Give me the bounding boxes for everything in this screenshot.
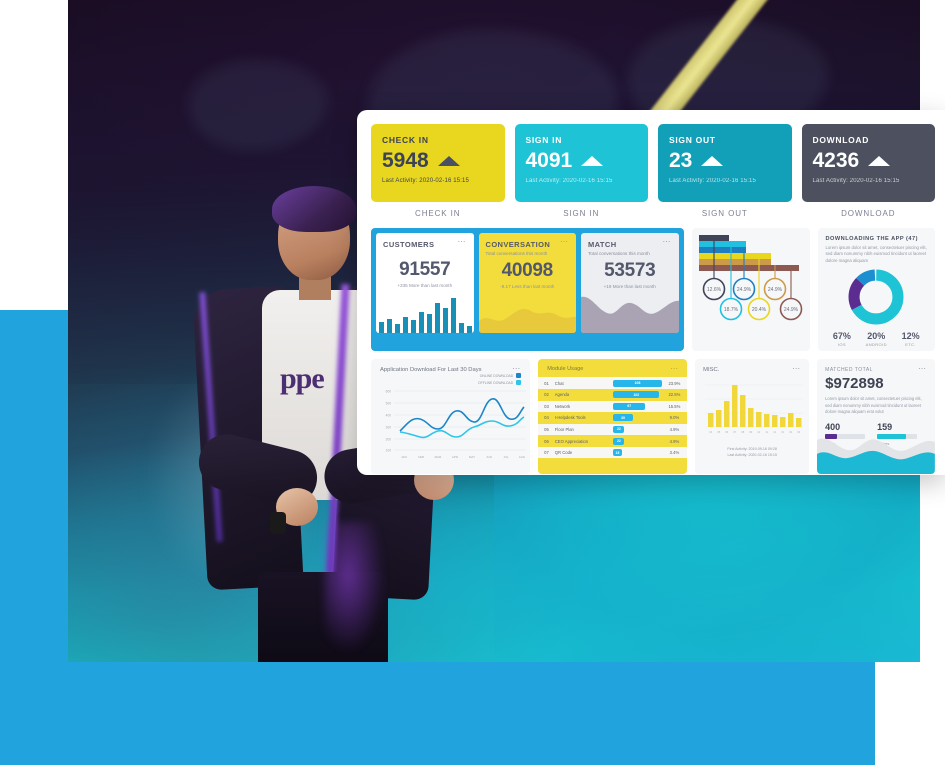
misc-card[interactable]: MISC. ⋯ 04 05 0 bbox=[695, 359, 809, 474]
speaker-shirt-logo: ppe bbox=[280, 362, 358, 396]
funnel-pct-4: 24.9% bbox=[767, 287, 782, 293]
more-options-icon[interactable]: ⋯ bbox=[792, 367, 801, 372]
chart-title: Application Download For Last 30 Days bbox=[380, 367, 482, 373]
row-name: QR Code bbox=[555, 447, 614, 459]
row-bar-cell: 39 bbox=[613, 412, 661, 424]
more-options-icon[interactable]: ⋯ bbox=[670, 367, 687, 372]
module-usage-card[interactable]: Module Usage ⋯ 01 Chat 108 23.9% 02 Agen… bbox=[538, 359, 687, 474]
kpi-value: 4091 bbox=[526, 150, 573, 171]
kpi-caption-sign-out: SIGN OUT bbox=[658, 209, 792, 218]
row-name: Network bbox=[555, 401, 614, 413]
table-row[interactable]: 04 I-Helpdesk Tools 39 9.0% bbox=[538, 412, 687, 424]
kpi-card-check-in[interactable]: CHECK IN 5948 Last Activity: 2020-02-16 … bbox=[371, 124, 505, 202]
y-tick: 200 bbox=[386, 438, 392, 442]
row-id: 06 bbox=[538, 435, 555, 447]
match-area-sparkline bbox=[581, 287, 679, 333]
table-row[interactable]: 06 CEO Appreciation 22 4.9% bbox=[538, 435, 687, 447]
matched-total-card[interactable]: MATCHED TOTAL ⋯ $972898 Lorem ipsum dolo… bbox=[817, 359, 935, 474]
mini-card-value: 53573 bbox=[588, 260, 672, 282]
x-tick: JUN bbox=[486, 455, 492, 459]
x-tick: 03 bbox=[797, 430, 800, 434]
legend-swatch-icon bbox=[516, 373, 521, 378]
triangle-up-icon bbox=[438, 156, 460, 166]
x-tick: JAN bbox=[401, 455, 407, 459]
x-tick: AUG bbox=[519, 455, 526, 459]
funnel-pct-1: 18.7% bbox=[723, 307, 738, 313]
donut-wrap bbox=[826, 268, 927, 326]
kpi-value-row: 5948 bbox=[382, 150, 494, 171]
row-id: 04 bbox=[538, 412, 555, 424]
row-id: 03 bbox=[538, 401, 555, 413]
x-tick: 07 bbox=[733, 430, 736, 434]
module-usage-header: Module Usage ⋯ bbox=[538, 359, 687, 377]
downloading-app-card[interactable]: DOWNLOADING THE APP (47) Lorem ipsum dol… bbox=[818, 228, 935, 351]
kpi-value-row: 4236 bbox=[813, 150, 925, 171]
more-options-icon[interactable]: ⋯ bbox=[560, 240, 569, 245]
matched-total-area-chart bbox=[817, 428, 935, 474]
donut-legend-pct: 67% bbox=[833, 331, 851, 341]
mini-card-delta: -8.17 Less than last month bbox=[486, 284, 570, 289]
mini-card-subtitle: Total conversations this month bbox=[486, 251, 570, 256]
funnel-pct-0: 12.6% bbox=[706, 287, 721, 293]
mini-card-group: CUSTOMERS ⋯ 91557 +335 More than last mo… bbox=[371, 228, 684, 351]
row-name: CEO Appreciation bbox=[555, 435, 614, 447]
row-name: Chat bbox=[555, 377, 614, 389]
mini-card-header: CUSTOMERS ⋯ bbox=[383, 240, 467, 249]
row-name: Floor Plan bbox=[555, 424, 614, 436]
module-usage-table: 01 Chat 108 23.9% 02 Agenda 102 22.5% 03… bbox=[538, 377, 687, 458]
row-bar: 102 bbox=[613, 391, 659, 398]
donut-legend-pct: 20% bbox=[866, 331, 887, 341]
conversation-area-sparkline bbox=[479, 295, 577, 333]
y-tick: 400 bbox=[386, 414, 392, 418]
donut-legend-pct: 12% bbox=[902, 331, 920, 341]
downloading-app-body: Lorem ipsum dolor sit amet, consectetuer… bbox=[826, 245, 927, 264]
kpi-title: SIGN IN bbox=[526, 135, 638, 145]
row-id: 05 bbox=[538, 424, 555, 436]
table-row[interactable]: 01 Chat 108 23.9% bbox=[538, 377, 687, 389]
mini-card-subtitle: Total conversations this month bbox=[588, 251, 672, 256]
row-bar: 39 bbox=[613, 414, 632, 421]
chart-legend-item: ONLINE DOWNLOAD bbox=[380, 373, 521, 378]
row-name: Agenda bbox=[555, 389, 614, 401]
matched-total-body: Lorem ipsum dolor sit amet, consectetuer… bbox=[825, 396, 927, 415]
kpi-card-sign-in[interactable]: SIGN IN 4091 Last Activity: 2020-02-16 1… bbox=[515, 124, 649, 202]
traffic-funnel-card[interactable]: 12.6% 18.7% 24.9% 20.4% 24.9% 24.9% bbox=[692, 228, 810, 351]
matched-total-value: $972898 bbox=[825, 375, 927, 392]
row-bar-cell: 102 bbox=[613, 389, 661, 401]
row-pct: 22.5% bbox=[662, 389, 687, 401]
kpi-value: 4236 bbox=[813, 150, 860, 171]
x-tick: 10 bbox=[757, 430, 760, 434]
funnel-pct-3: 20.4% bbox=[751, 307, 766, 313]
donut-legend: 67% IOS 20% ANDROID 12% ETC. bbox=[826, 331, 927, 347]
row-bar: 15 bbox=[613, 449, 621, 456]
kpi-value-row: 23 bbox=[669, 150, 781, 171]
y-tick: 500 bbox=[386, 402, 392, 406]
funnel-chart: 12.6% 18.7% 24.9% 20.4% 24.9% 24.9% bbox=[697, 233, 805, 333]
misc-footer: First Activity: 2019-09-16 09:28 Last Ac… bbox=[703, 447, 801, 459]
x-tick: 11 bbox=[766, 430, 769, 434]
table-row[interactable]: 02 Agenda 102 22.5% bbox=[538, 389, 687, 401]
kpi-last-activity: Last Activity: 2020-02-16 15:15 bbox=[813, 178, 925, 184]
chart-legend-label: ONLINE DOWNLOAD bbox=[480, 374, 514, 378]
row-pct: 9.0% bbox=[662, 412, 687, 424]
matched-total-title: MATCHED TOTAL bbox=[825, 367, 873, 373]
table-row[interactable]: 05 Floor Plan 22 4.9% bbox=[538, 424, 687, 436]
row-id: 01 bbox=[538, 377, 555, 389]
x-tick: 01 bbox=[781, 430, 784, 434]
kpi-value: 23 bbox=[669, 150, 692, 171]
x-tick: 12 bbox=[773, 430, 776, 434]
row-bar-cell: 108 bbox=[613, 377, 661, 389]
speaker-hair bbox=[272, 186, 356, 232]
speaker-clicker bbox=[270, 512, 286, 534]
mini-card-title: MATCH bbox=[588, 240, 617, 249]
kpi-row: CHECK IN 5948 Last Activity: 2020-02-16 … bbox=[371, 124, 935, 202]
mini-card-header: CONVERSATION ⋯ bbox=[486, 240, 570, 249]
x-tick: APR bbox=[452, 455, 459, 459]
kpi-card-sign-out[interactable]: SIGN OUT 23 Last Activity: 2020-02-16 15… bbox=[658, 124, 792, 202]
row-name: I-Helpdesk Tools bbox=[555, 412, 614, 424]
kpi-caption-download: DOWNLOAD bbox=[802, 209, 936, 218]
chart-legend-item: OFFLINE DOWNLOAD bbox=[380, 380, 521, 385]
table-row[interactable]: 03 Network 67 15.5% bbox=[538, 401, 687, 413]
x-tick: MAY bbox=[469, 455, 475, 459]
mini-card-title: CUSTOMERS bbox=[383, 240, 434, 249]
more-options-icon[interactable]: ⋯ bbox=[918, 367, 927, 372]
more-options-icon[interactable]: ⋯ bbox=[663, 240, 672, 245]
x-tick: 09 bbox=[749, 430, 752, 434]
misc-bar-chart: 04 05 06 07 08 09 10 11 12 01 02 03 bbox=[703, 373, 805, 439]
mini-card-delta: +335 More than last month bbox=[383, 283, 467, 288]
row-pct: 4.9% bbox=[662, 435, 687, 447]
mini-card-value: 40098 bbox=[486, 260, 570, 282]
kpi-value-row: 4091 bbox=[526, 150, 638, 171]
mini-card-conversation[interactable]: CONVERSATION ⋯ Total conversations this … bbox=[479, 233, 577, 333]
row-bar-cell: 22 bbox=[613, 435, 661, 447]
mini-card-value: 91557 bbox=[383, 259, 467, 281]
kpi-last-activity: Last Activity: 2020-02-16 15:15 bbox=[526, 178, 638, 184]
y-tick: 600 bbox=[386, 390, 392, 394]
kpi-title: SIGN OUT bbox=[669, 135, 781, 145]
row-pct: 15.5% bbox=[662, 401, 687, 413]
x-tick: MAR bbox=[435, 455, 443, 459]
application-download-line-chart: 600 500 400 300 200 100 JAN FEB MAR APR … bbox=[380, 387, 528, 461]
kpi-caption-check-in: CHECK IN bbox=[371, 209, 505, 218]
bottom-row: Application Download For Last 30 Days ⋯ … bbox=[371, 359, 935, 474]
x-tick: 04 bbox=[709, 430, 712, 434]
funnel-pct-5: 24.9% bbox=[783, 307, 798, 313]
app-platform-donut-chart bbox=[847, 268, 905, 326]
kpi-title: DOWNLOAD bbox=[813, 135, 925, 145]
row-bar: 22 bbox=[613, 426, 624, 433]
chart-legend-label: OFFLINE DOWNLOAD bbox=[478, 381, 513, 385]
mid-row: CUSTOMERS ⋯ 91557 +335 More than last mo… bbox=[371, 228, 935, 351]
mini-card-match[interactable]: MATCH ⋯ Total conversations this month 5… bbox=[581, 233, 679, 333]
funnel-pct-2: 24.9% bbox=[736, 287, 751, 293]
x-tick: 05 bbox=[717, 430, 720, 434]
kpi-value: 5948 bbox=[382, 150, 429, 171]
table-row[interactable]: 07 QR Code 15 3.4% bbox=[538, 447, 687, 459]
x-tick: 06 bbox=[725, 430, 728, 434]
misc-last-activity: Last Activity: 2020-02-16 15:15 bbox=[703, 453, 801, 459]
mini-card-header: MATCH ⋯ bbox=[588, 240, 672, 249]
row-pct: 4.9% bbox=[662, 424, 687, 436]
matched-header: MATCHED TOTAL ⋯ bbox=[825, 367, 927, 373]
kpi-last-activity: Last Activity: 2020-02-16 15:15 bbox=[669, 178, 781, 184]
row-bar: 108 bbox=[613, 380, 661, 387]
application-download-chart-card[interactable]: Application Download For Last 30 Days ⋯ … bbox=[371, 359, 530, 474]
legend-swatch-icon bbox=[516, 380, 521, 385]
x-tick: JUL bbox=[503, 455, 509, 459]
donut-legend-label: IOS bbox=[833, 342, 851, 347]
row-bar-cell: 15 bbox=[613, 447, 661, 459]
triangle-up-icon bbox=[701, 156, 723, 166]
y-tick: 100 bbox=[386, 449, 392, 453]
row-bar-cell: 67 bbox=[613, 401, 661, 413]
downloading-app-title: DOWNLOADING THE APP (47) bbox=[826, 236, 927, 242]
y-tick: 300 bbox=[386, 426, 392, 430]
triangle-up-icon bbox=[581, 156, 603, 166]
kpi-caption-sign-in: SIGN IN bbox=[515, 209, 649, 218]
mini-card-customers[interactable]: CUSTOMERS ⋯ 91557 +335 More than last mo… bbox=[376, 233, 474, 333]
donut-legend-item: 67% IOS bbox=[833, 331, 851, 347]
kpi-caption-row: CHECK IN SIGN IN SIGN OUT DOWNLOAD bbox=[371, 209, 935, 218]
row-id: 07 bbox=[538, 447, 555, 459]
mini-card-title: CONVERSATION bbox=[486, 240, 551, 249]
row-id: 02 bbox=[538, 389, 555, 401]
row-bar-cell: 22 bbox=[613, 424, 661, 436]
donut-legend-item: 12% ETC. bbox=[902, 331, 920, 347]
kpi-card-download[interactable]: DOWNLOAD 4236 Last Activity: 2020-02-16 … bbox=[802, 124, 936, 202]
kpi-title: CHECK IN bbox=[382, 135, 494, 145]
more-options-icon[interactable]: ⋯ bbox=[512, 367, 521, 372]
x-tick: FEB bbox=[418, 455, 424, 459]
row-bar: 22 bbox=[613, 438, 624, 445]
kpi-last-activity: Last Activity: 2020-02-16 15:15 bbox=[382, 178, 494, 184]
row-pct: 3.4% bbox=[662, 447, 687, 459]
triangle-up-icon bbox=[868, 156, 890, 166]
dashboard-panel: CHECK IN 5948 Last Activity: 2020-02-16 … bbox=[357, 110, 945, 475]
chart-legend: ONLINE DOWNLOAD OFFLINE DOWNLOAD bbox=[380, 373, 521, 385]
donut-legend-label: ANDROID bbox=[866, 342, 887, 347]
row-pct: 23.9% bbox=[662, 377, 687, 389]
customers-bar-sparkline bbox=[376, 295, 474, 333]
donut-legend-item: 20% ANDROID bbox=[866, 331, 887, 347]
row-bar: 67 bbox=[613, 403, 645, 410]
x-tick: 08 bbox=[741, 430, 744, 434]
x-tick: 02 bbox=[789, 430, 792, 434]
module-usage-title: Module Usage bbox=[547, 366, 583, 372]
donut-legend-label: ETC. bbox=[902, 342, 920, 347]
more-options-icon[interactable]: ⋯ bbox=[458, 240, 467, 245]
speaker-purple-light bbox=[324, 522, 384, 652]
